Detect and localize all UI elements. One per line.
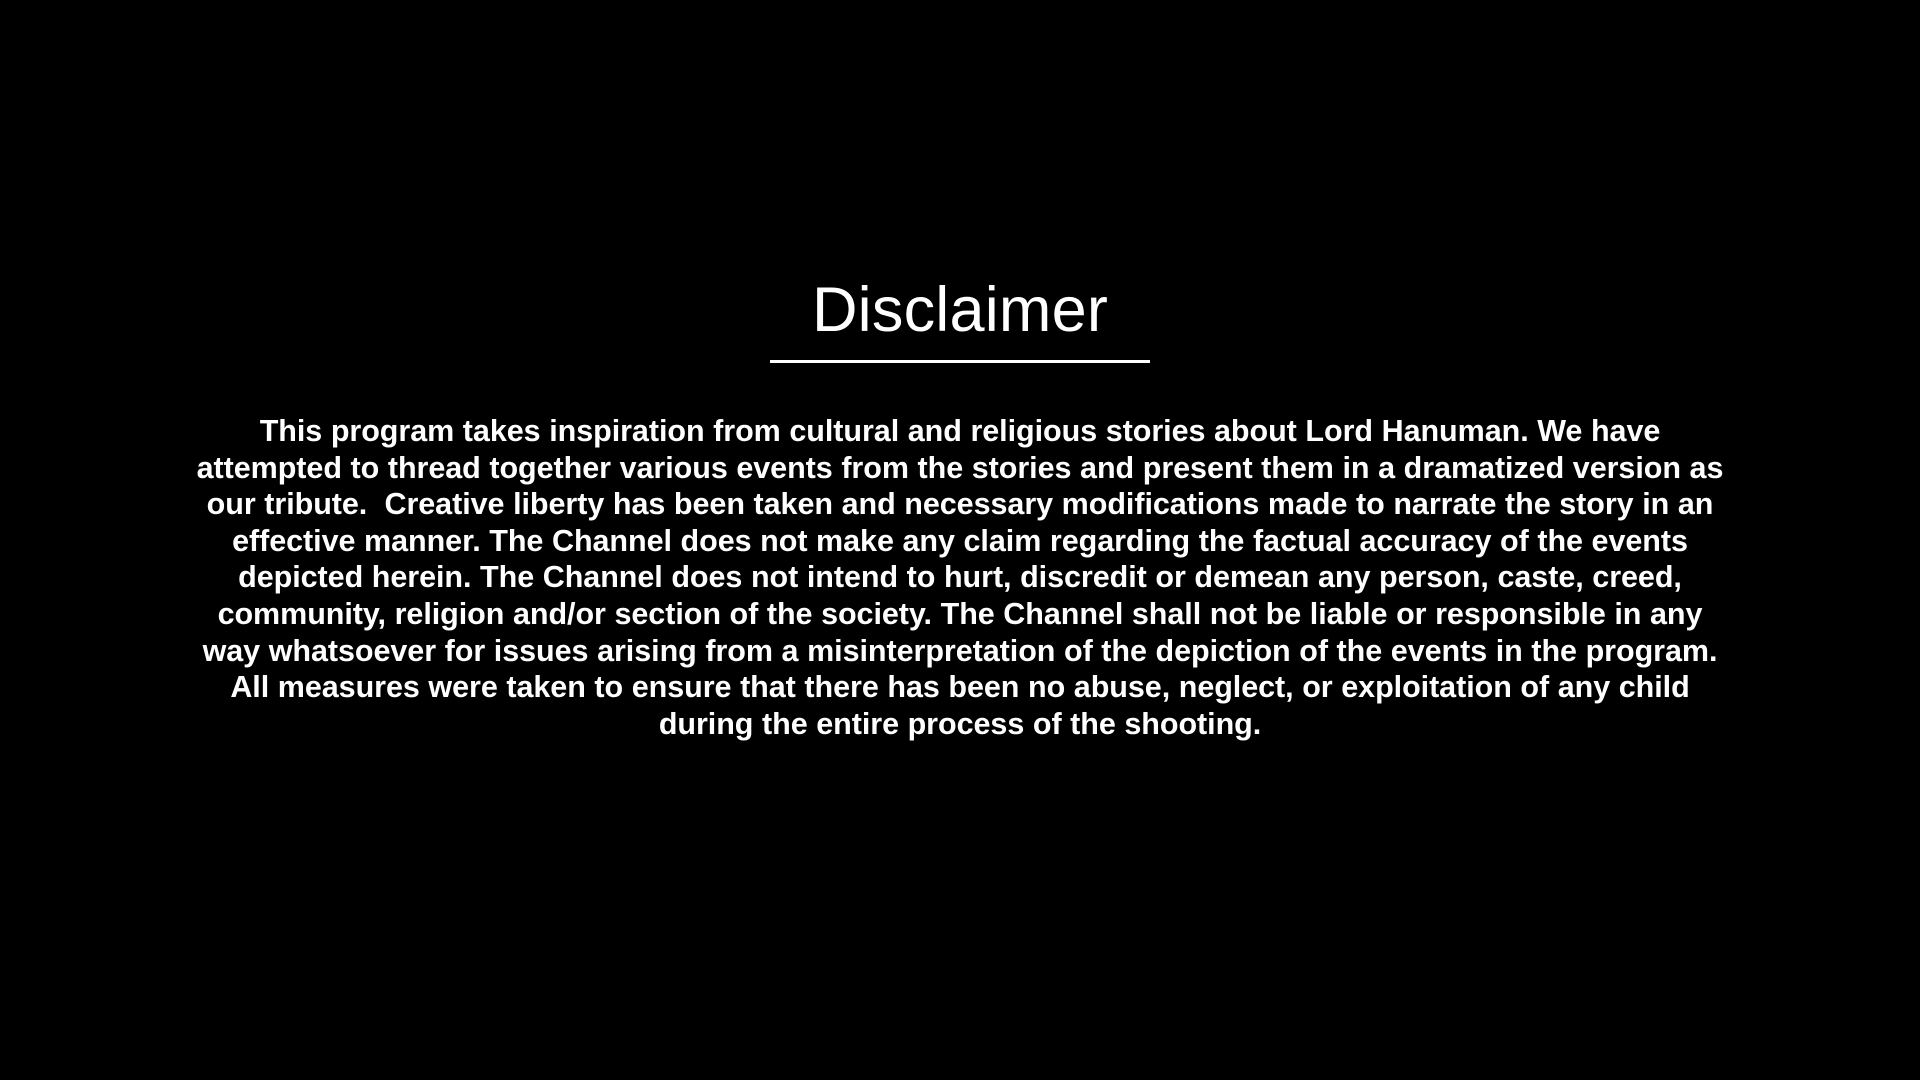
disclaimer-slide: Disclaimer This program takes inspiratio… [0, 0, 1920, 1080]
disclaimer-paragraph: This program takes inspiration from cult… [194, 413, 1726, 742]
disclaimer-body-block: This program takes inspiration from cult… [194, 413, 1726, 742]
title-block: Disclaimer [0, 278, 1920, 363]
title-underline-rule [770, 360, 1150, 363]
page-title: Disclaimer [0, 278, 1920, 342]
